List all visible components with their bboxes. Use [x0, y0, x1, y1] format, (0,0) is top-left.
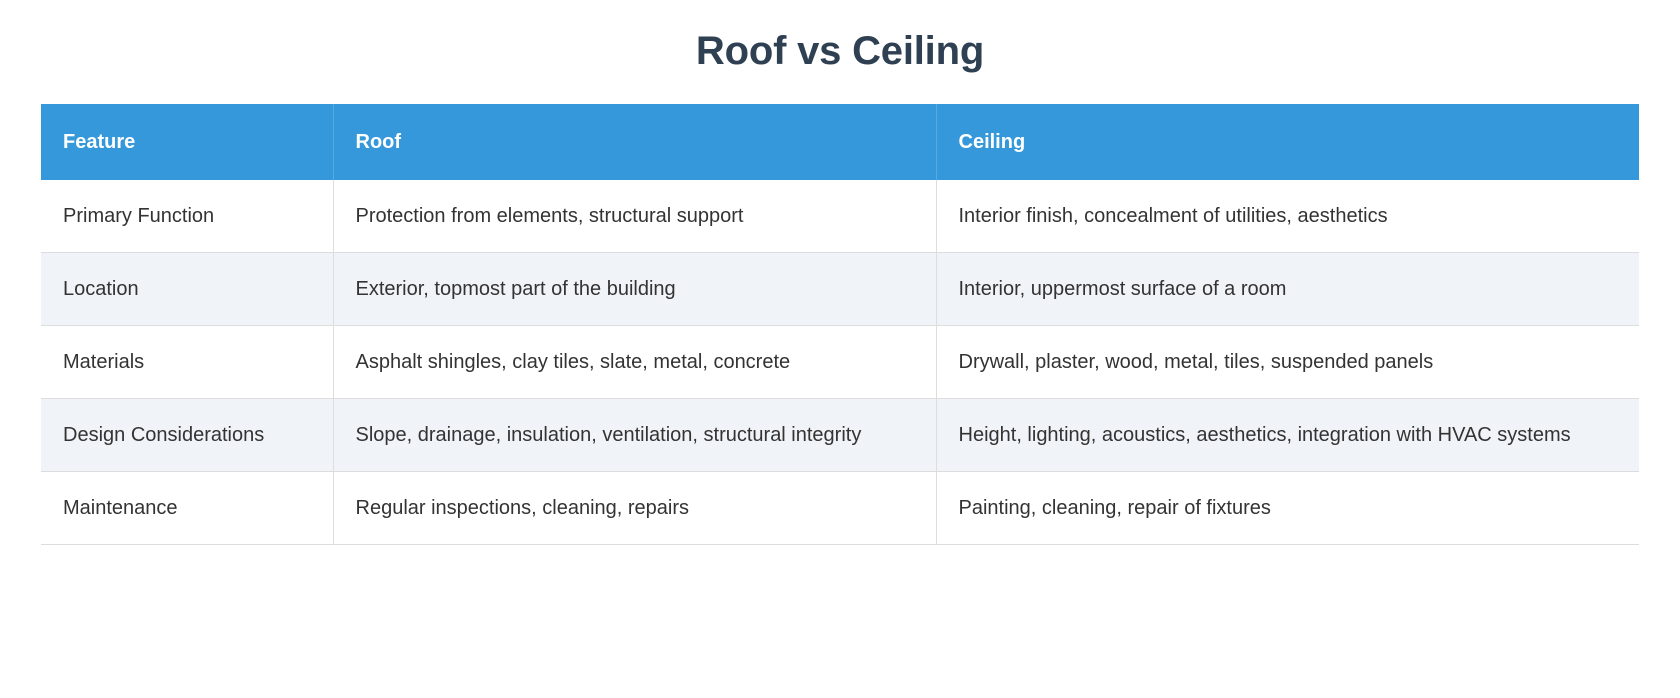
page-root: Roof vs Ceiling Feature Roof Ceiling Pri…	[0, 0, 1680, 698]
cell-feature: Design Considerations	[41, 399, 333, 472]
cell-ceiling: Interior finish, concealment of utilitie…	[936, 180, 1639, 253]
cell-feature: Maintenance	[41, 472, 333, 545]
column-header-feature[interactable]: Feature	[41, 104, 333, 180]
cell-ceiling: Drywall, plaster, wood, metal, tiles, su…	[936, 326, 1639, 399]
table-row: Primary Function Protection from element…	[41, 180, 1639, 253]
table-header: Feature Roof Ceiling	[41, 104, 1639, 180]
cell-roof: Regular inspections, cleaning, repairs	[333, 472, 936, 545]
table-row: Design Considerations Slope, drainage, i…	[41, 399, 1639, 472]
cell-feature: Primary Function	[41, 180, 333, 253]
table-header-row: Feature Roof Ceiling	[41, 104, 1639, 180]
table-row: Maintenance Regular inspections, cleanin…	[41, 472, 1639, 545]
cell-roof: Asphalt shingles, clay tiles, slate, met…	[333, 326, 936, 399]
cell-ceiling: Height, lighting, acoustics, aesthetics,…	[936, 399, 1639, 472]
comparison-table-container: Feature Roof Ceiling Primary Function Pr…	[41, 104, 1639, 545]
page-title: Roof vs Ceiling	[0, 0, 1680, 76]
cell-roof: Protection from elements, structural sup…	[333, 180, 936, 253]
column-header-roof[interactable]: Roof	[333, 104, 936, 180]
table-row: Location Exterior, topmost part of the b…	[41, 253, 1639, 326]
cell-feature: Materials	[41, 326, 333, 399]
table-body: Primary Function Protection from element…	[41, 180, 1639, 545]
table-row: Materials Asphalt shingles, clay tiles, …	[41, 326, 1639, 399]
cell-feature: Location	[41, 253, 333, 326]
cell-ceiling: Interior, uppermost surface of a room	[936, 253, 1639, 326]
comparison-table: Feature Roof Ceiling Primary Function Pr…	[41, 104, 1639, 545]
cell-ceiling: Painting, cleaning, repair of fixtures	[936, 472, 1639, 545]
cell-roof: Slope, drainage, insulation, ventilation…	[333, 399, 936, 472]
column-header-ceiling[interactable]: Ceiling	[936, 104, 1639, 180]
cell-roof: Exterior, topmost part of the building	[333, 253, 936, 326]
